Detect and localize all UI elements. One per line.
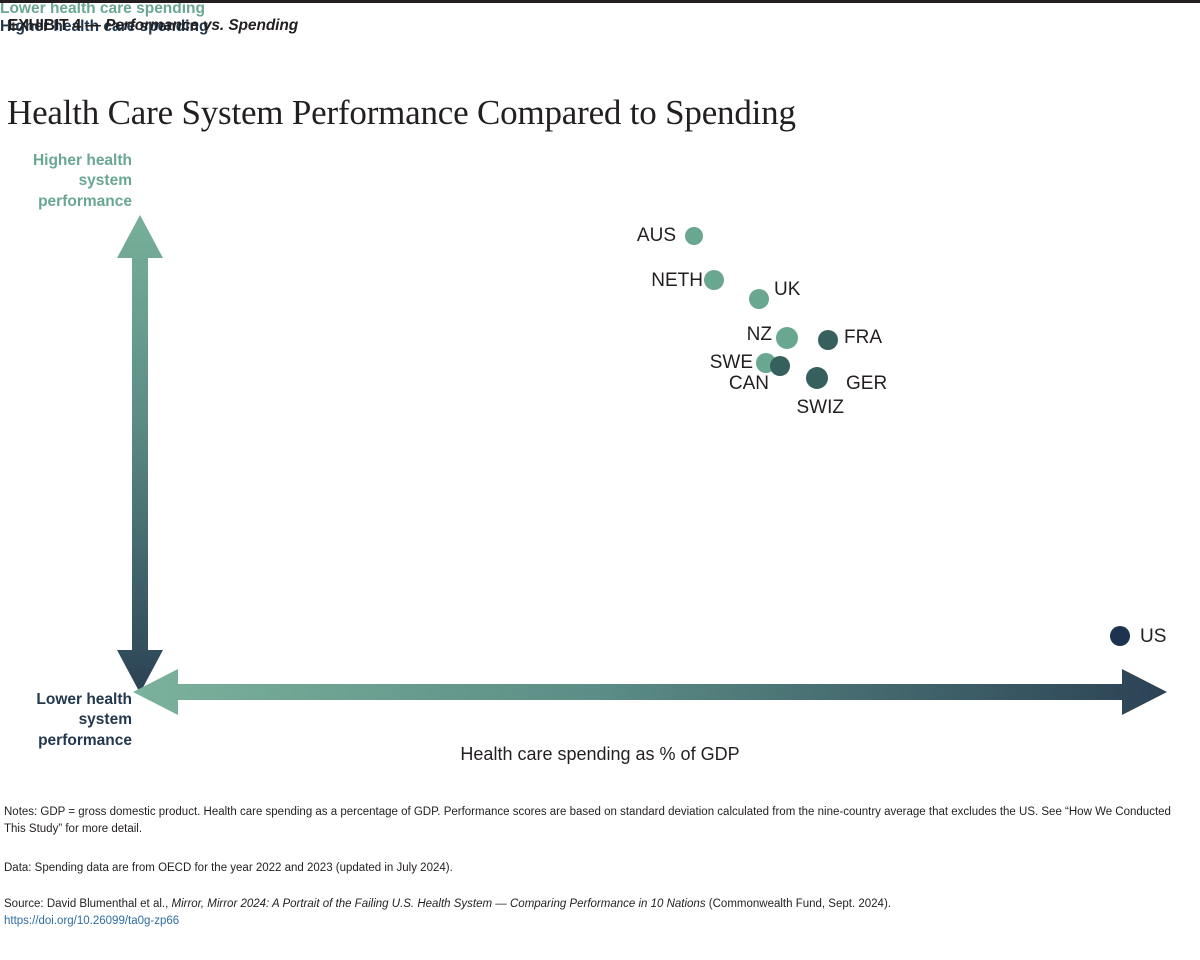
- data-point-label-ger: GER: [846, 373, 887, 395]
- data-point-swiz: [806, 367, 828, 389]
- data-point-fra: [818, 330, 838, 350]
- data-point-neth: [704, 270, 724, 290]
- source-publication-title: Mirror, Mirror 2024: A Portrait of the F…: [171, 898, 705, 910]
- data-point-label-can: CAN: [729, 373, 769, 395]
- data-point-label-nz: NZ: [747, 324, 772, 346]
- data-point-label-swiz: SWIZ: [797, 397, 845, 419]
- footnote-data: Data: Spending data are from OECD for th…: [4, 860, 1184, 877]
- data-point-label-aus: AUS: [637, 225, 676, 247]
- footnote-source: Source: David Blumenthal et al., Mirror,…: [4, 896, 1184, 931]
- doi-link[interactable]: https://doi.org/10.26099/ta0g-zp66: [4, 915, 179, 927]
- data-point-nz: [776, 327, 798, 349]
- source-prefix: Source: David Blumenthal et al.,: [4, 898, 171, 910]
- data-point-can: [770, 356, 790, 376]
- data-point-uk: [749, 289, 769, 309]
- source-suffix: (Commonwealth Fund, Sept. 2024).: [706, 898, 891, 910]
- data-point-label-uk: UK: [774, 279, 800, 301]
- footnote-notes: Notes: GDP = gross domestic product. Hea…: [4, 804, 1184, 839]
- data-point-label-us: US: [1140, 626, 1166, 648]
- data-point-label-swe: SWE: [710, 352, 753, 374]
- data-point-us: [1110, 626, 1130, 646]
- data-point-label-fra: FRA: [844, 327, 882, 349]
- data-point-label-neth: NETH: [651, 270, 703, 292]
- data-point-aus: [685, 227, 703, 245]
